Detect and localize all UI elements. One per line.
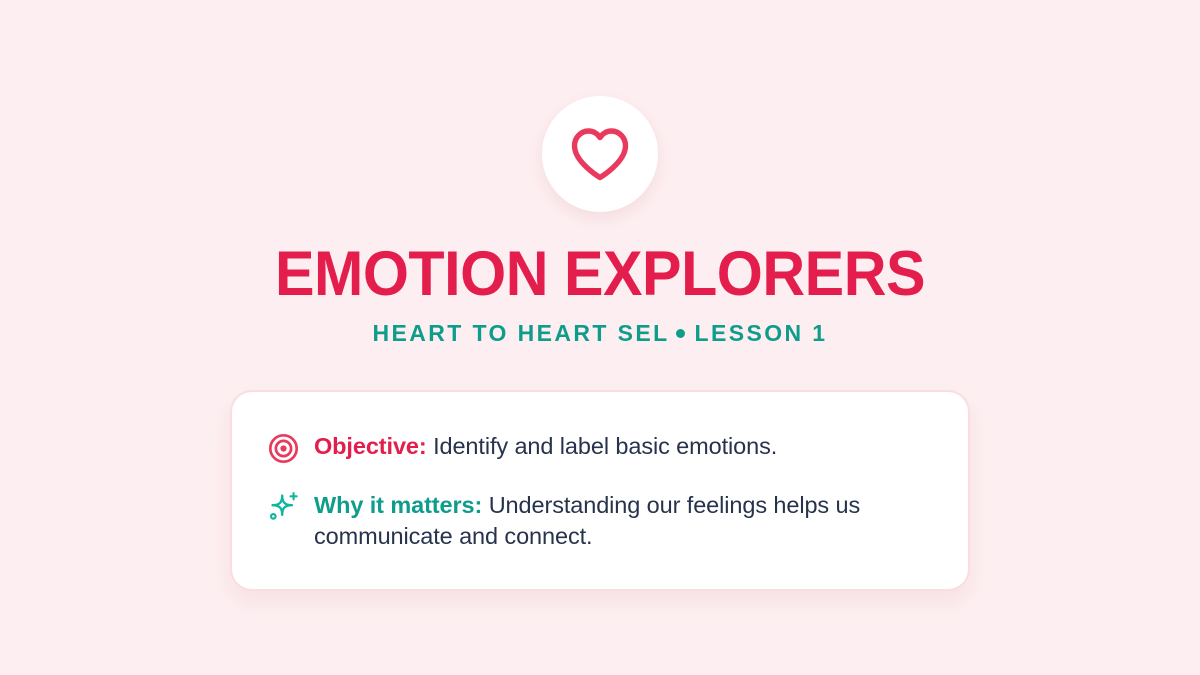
- subtitle-right: LESSON 1: [695, 320, 828, 346]
- objective-row: Objective: Identify and label basic emot…: [266, 430, 928, 465]
- page-title: EMOTION EXPLORERS: [36, 243, 1164, 306]
- why-it-matters-text: Why it matters: Understanding our feelin…: [314, 489, 928, 553]
- subtitle-separator-dot: [676, 329, 685, 338]
- info-card: Objective: Identify and label basic emot…: [230, 390, 970, 591]
- why-it-matters-row: Why it matters: Understanding our feelin…: [266, 489, 928, 553]
- sparkle-icon: [266, 490, 300, 524]
- heart-icon: [569, 126, 631, 182]
- slide: EMOTION EXPLORERS HEART TO HEART SELLESS…: [0, 0, 1200, 675]
- target-icon: [266, 431, 300, 465]
- objective-text: Objective: Identify and label basic emot…: [314, 430, 777, 462]
- page-subtitle: HEART TO HEART SELLESSON 1: [0, 320, 1200, 348]
- subtitle-left: HEART TO HEART SEL: [372, 320, 669, 346]
- why-it-matters-label: Why it matters:: [314, 492, 482, 518]
- objective-label: Objective:: [314, 433, 427, 459]
- objective-body: Identify and label basic emotions.: [433, 433, 777, 459]
- heart-badge: [542, 96, 658, 212]
